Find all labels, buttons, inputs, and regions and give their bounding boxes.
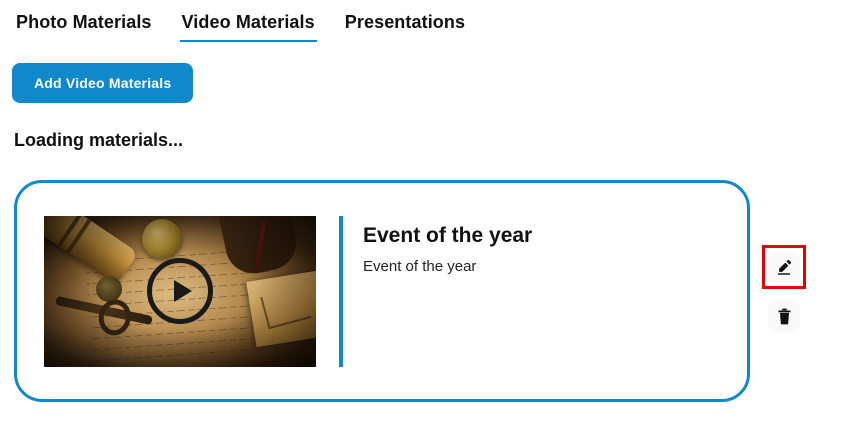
pencil-edit-icon [775, 258, 793, 276]
material-description: Event of the year [363, 256, 532, 278]
material-title: Event of the year [363, 222, 532, 249]
edit-button[interactable] [768, 251, 800, 283]
tab-video-materials[interactable]: Video Materials [180, 10, 317, 42]
loading-status-text: Loading materials... [14, 128, 183, 152]
trash-icon [777, 308, 792, 325]
video-material-card: Event of the year Event of the year [14, 180, 750, 402]
tab-presentations[interactable]: Presentations [343, 10, 467, 42]
play-triangle-glyph [174, 280, 192, 302]
add-video-materials-button[interactable]: Add Video Materials [12, 63, 193, 103]
delete-button-wrap [768, 300, 806, 332]
card-accent-bar [339, 216, 343, 367]
material-actions [762, 245, 806, 332]
play-icon[interactable] [147, 258, 213, 324]
materials-tab-bar: Photo Materials Video Materials Presenta… [14, 10, 467, 42]
video-thumbnail[interactable] [44, 216, 316, 367]
delete-button[interactable] [768, 300, 800, 332]
edit-button-highlight [762, 245, 806, 289]
tab-photo-materials[interactable]: Photo Materials [14, 10, 154, 42]
card-text-block: Event of the year Event of the year [363, 222, 532, 278]
